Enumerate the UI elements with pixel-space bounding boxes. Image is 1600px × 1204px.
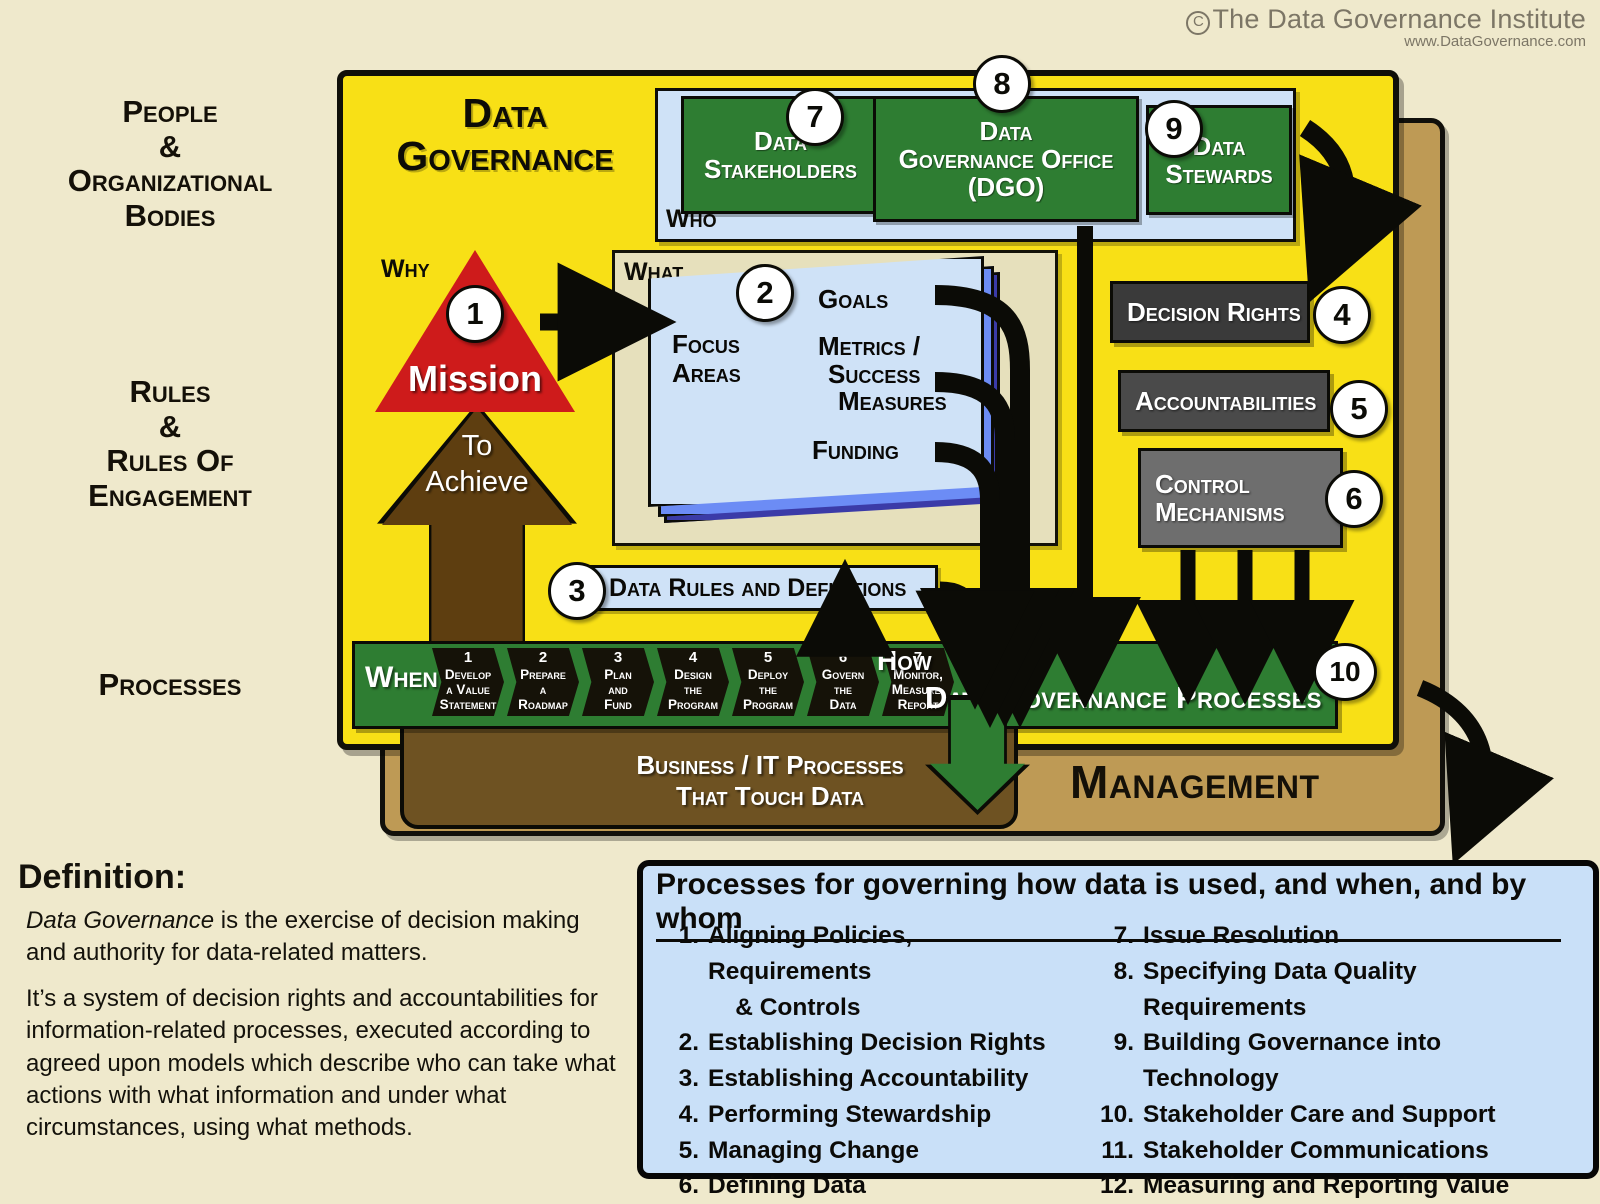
when-step-5[interactable]: 5DeploytheProgram	[732, 648, 804, 716]
process-item-number: 4.	[655, 1097, 699, 1133]
process-item-text: Performing Stewardship	[708, 1097, 1075, 1133]
badge-4[interactable]: 4	[1313, 286, 1371, 344]
process-item-text: Measuring and Reporting Value	[1143, 1168, 1580, 1204]
when-step-line: the	[657, 682, 729, 697]
when-step-line: Deploy	[732, 667, 804, 682]
process-item-text: Stakeholder Communications	[1143, 1133, 1580, 1169]
process-list-item: 10.Stakeholder Care and Support	[1090, 1097, 1580, 1133]
copyright-notice: CThe Data Governance Institute www.DataG…	[1186, 4, 1586, 50]
text-line: Achieve	[382, 464, 572, 500]
when-step-line: the	[732, 682, 804, 697]
label-line: Rules	[10, 375, 330, 410]
focus-areas-text: Focus Areas	[672, 330, 741, 387]
left-label-processes: Processes	[10, 668, 330, 703]
definition-body: Data Governance is the exercise of decis…	[26, 905, 626, 1158]
process-item-text: Building Governance into Technology	[1143, 1025, 1580, 1097]
text-line: Business / IT Processes	[560, 750, 980, 781]
badge-8[interactable]: 8	[973, 55, 1031, 113]
management-label: Management	[1070, 755, 1320, 809]
badge-6[interactable]: 6	[1325, 470, 1383, 528]
box-accountabilities[interactable]: Accountabilities	[1118, 370, 1330, 432]
process-item-text: Establishing Accountability	[708, 1061, 1075, 1097]
when-step-4[interactable]: 4DesigntheProgram	[657, 648, 729, 716]
process-item-text: & Controls	[708, 990, 1075, 1026]
funding-text: Funding	[812, 435, 899, 466]
process-item-number: 5.	[655, 1133, 699, 1169]
process-item-number: 1.	[655, 918, 699, 990]
process-item-number: 9.	[1090, 1025, 1134, 1097]
box-line: (DGO)	[899, 173, 1114, 201]
label-line: People	[10, 95, 330, 130]
process-list-item: 7.Issue Resolution	[1090, 918, 1580, 954]
processes-column-1: 1.Aligning Policies, Requirements & Cont…	[655, 918, 1075, 1204]
box-line: Stakeholders	[704, 155, 857, 183]
when-step-line: Fund	[582, 697, 654, 712]
left-label-rules: Rules & Rules of Engagement	[10, 375, 330, 514]
process-item-number: 10.	[1090, 1097, 1134, 1133]
label-line: Engagement	[10, 479, 330, 514]
when-step-number: 2	[507, 650, 579, 667]
when-step-line: Develop	[432, 667, 504, 682]
text-line: Success	[818, 361, 947, 389]
label-line: &	[10, 130, 330, 165]
badge-3[interactable]: 3	[548, 562, 606, 620]
badge-5[interactable]: 5	[1330, 380, 1388, 438]
process-list-item: 12.Measuring and Reporting Value	[1090, 1168, 1580, 1204]
when-step-line: a	[507, 682, 579, 697]
when-step-line: Data	[807, 697, 879, 712]
box-line: Stewards	[1165, 160, 1272, 188]
definition-paragraph-2: It’s a system of decision rights and acc…	[26, 983, 626, 1144]
process-item-text: Aligning Policies, Requirements	[708, 918, 1075, 990]
definition-title: Definition:	[18, 858, 186, 897]
when-step-number: 4	[657, 650, 729, 667]
copyright-org: The Data Governance Institute	[1212, 4, 1586, 34]
process-list-item: 9.Building Governance into Technology	[1090, 1025, 1580, 1097]
box-data-stakeholders[interactable]: Data Stakeholders	[681, 96, 880, 214]
badge-10[interactable]: 10	[1313, 643, 1377, 701]
process-item-text: Stakeholder Care and Support	[1143, 1097, 1580, 1133]
label-line: Organizational	[10, 164, 330, 199]
definition-term: Data Governance	[26, 907, 214, 934]
process-item-number: 2.	[655, 1025, 699, 1061]
box-data-rules-and-definitions[interactable]: Data Rules and Definitions	[588, 565, 938, 611]
box-line: Data	[899, 117, 1114, 145]
when-step-line: a Value	[432, 682, 504, 697]
when-step-line: Govern	[807, 667, 879, 682]
process-item-number: 6.	[655, 1168, 699, 1204]
process-item-text: Managing Change	[708, 1133, 1075, 1169]
when-step-line: Statement	[432, 697, 504, 712]
process-list-item: 3.Establishing Accountability	[655, 1061, 1075, 1097]
business-it-processes-label: Business / IT Processes That Touch Data	[560, 750, 980, 812]
text-line: Measures	[818, 388, 947, 416]
copyright-icon: C	[1186, 11, 1210, 35]
text-line: Areas	[672, 359, 741, 388]
when-step-number: 5	[732, 650, 804, 667]
title-line-1: Data	[463, 90, 548, 136]
when-step-1[interactable]: 1Developa ValueStatement	[432, 648, 504, 716]
processes-column-2: 7.Issue Resolution8.Specifying Data Qual…	[1090, 918, 1580, 1204]
page-title: Data Governance	[370, 92, 640, 179]
when-step-line: Program	[657, 697, 729, 712]
when-label: When	[365, 661, 438, 695]
title-line-2: Governance	[396, 133, 613, 179]
when-step-3[interactable]: 3PlanandFund	[582, 648, 654, 716]
badge-1[interactable]: 1	[446, 285, 504, 343]
process-item-number: 12.	[1090, 1168, 1134, 1204]
mission-label: Mission	[375, 358, 575, 400]
when-step-2[interactable]: 2PrepareaRoadmap	[507, 648, 579, 716]
when-step-line: Program	[732, 697, 804, 712]
metrics-success-measures-text: Metrics / Success Measures	[818, 333, 947, 416]
process-item-number	[655, 990, 699, 1026]
box-data-governance-office[interactable]: Data Governance Office (DGO)	[873, 96, 1139, 222]
label-line: Rules of	[10, 444, 330, 479]
process-item-text: Specifying Data Quality Requirements	[1143, 954, 1580, 1026]
text-line: That Touch Data	[560, 781, 980, 812]
to-achieve-text: To Achieve	[382, 428, 572, 501]
label-line: &	[10, 410, 330, 445]
box-line: Mechanisms	[1155, 498, 1285, 526]
process-item-number: 7.	[1090, 918, 1134, 954]
when-step-number: 3	[582, 650, 654, 667]
box-line: Governance Office	[899, 145, 1114, 173]
left-label-people: People & Organizational Bodies	[10, 95, 330, 234]
process-list-item: 11.Stakeholder Communications	[1090, 1133, 1580, 1169]
process-list-item: 1.Aligning Policies, Requirements	[655, 918, 1075, 990]
process-list-item: 6.Defining Data	[655, 1168, 1075, 1204]
text-line: Metrics /	[818, 333, 947, 361]
box-line: Control	[1155, 470, 1285, 498]
when-step-6[interactable]: 6GoverntheData	[807, 648, 879, 716]
when-step-line: Roadmap	[507, 697, 579, 712]
when-step-line: Prepare	[507, 667, 579, 682]
when-step-line: Plan	[582, 667, 654, 682]
definition-paragraph-1: Data Governance is the exercise of decis…	[26, 905, 626, 969]
process-list-item: 5.Managing Change	[655, 1133, 1075, 1169]
goals-text: Goals	[818, 284, 888, 315]
process-item-number: 3.	[655, 1061, 699, 1097]
how-label: How	[877, 645, 932, 677]
process-list-item: & Controls	[655, 990, 1075, 1026]
label-line: Bodies	[10, 199, 330, 234]
process-item-number: 8.	[1090, 954, 1134, 1026]
box-decision-rights[interactable]: Decision Rights	[1110, 281, 1310, 343]
when-step-line: and	[582, 682, 654, 697]
badge-2[interactable]: 2	[736, 264, 794, 322]
process-item-text: Defining Data	[708, 1168, 1075, 1204]
process-list-item: 2.Establishing Decision Rights	[655, 1025, 1075, 1061]
badge-9[interactable]: 9	[1145, 100, 1203, 158]
box-control-mechanisms[interactable]: Control Mechanisms	[1138, 448, 1343, 548]
process-item-number: 11.	[1090, 1133, 1134, 1169]
copyright-url: www.DataGovernance.com	[1186, 33, 1586, 50]
when-step-line: Design	[657, 667, 729, 682]
process-item-text: Issue Resolution	[1143, 918, 1580, 954]
when-step-line: the	[807, 682, 879, 697]
process-list-item: 8.Specifying Data Quality Requirements	[1090, 954, 1580, 1026]
text-line: To	[382, 428, 572, 464]
process-list-item: 4.Performing Stewardship	[655, 1097, 1075, 1133]
when-step-number: 1	[432, 650, 504, 667]
text-line: Focus	[672, 330, 741, 359]
why-label: Why	[381, 255, 430, 284]
when-step-number: 6	[807, 650, 879, 667]
badge-7[interactable]: 7	[786, 88, 844, 146]
process-item-text: Establishing Decision Rights	[708, 1025, 1075, 1061]
label-line: Processes	[10, 668, 330, 703]
